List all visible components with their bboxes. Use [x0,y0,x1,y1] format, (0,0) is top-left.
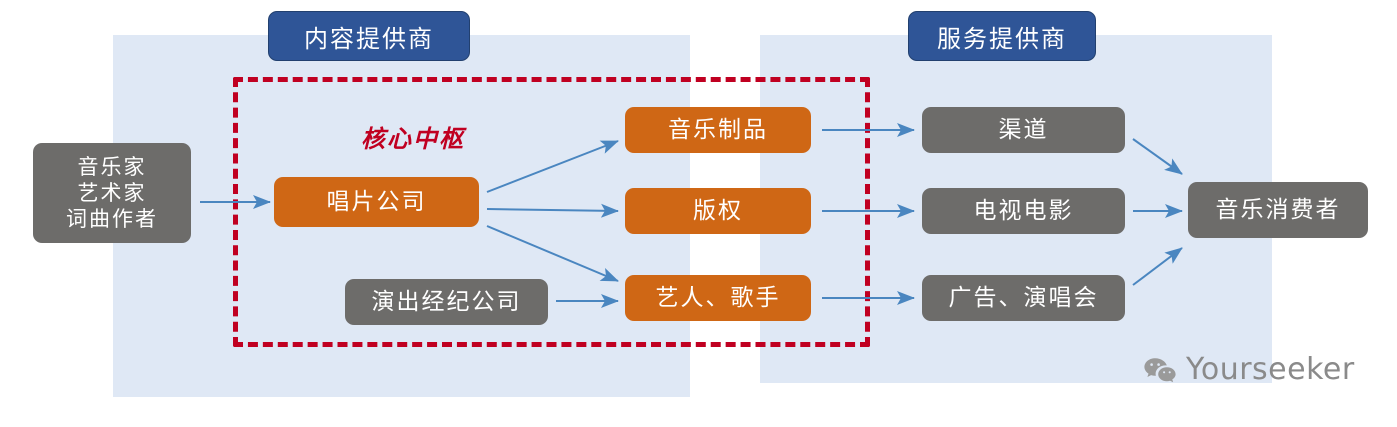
node-performance-agency-label: 演出经纪公司 [372,288,522,317]
node-music-products-label: 音乐制品 [668,116,768,145]
diagram-canvas: 内容提供商 服务提供商 核心中枢 音乐家 艺术家 词曲作者 唱片公司 演出经纪公… [0,0,1397,427]
node-performance-agency[interactable]: 演出经纪公司 [345,279,548,325]
node-music-consumers-label: 音乐消费者 [1216,196,1341,225]
section-header-service-provider-label: 服务提供商 [937,19,1067,54]
watermark-label: Yourseeker [1186,352,1355,387]
node-creators[interactable]: 音乐家 艺术家 词曲作者 [33,143,191,243]
node-artists-singers-label: 艺人、歌手 [656,284,781,313]
node-channel-label: 渠道 [999,116,1049,145]
node-music-products[interactable]: 音乐制品 [625,107,811,153]
node-copyright-label: 版权 [693,197,743,226]
section-header-content-provider-label: 内容提供商 [304,19,434,54]
node-record-company[interactable]: 唱片公司 [274,177,479,227]
node-tv-film[interactable]: 电视电影 [922,188,1125,234]
node-tv-film-label: 电视电影 [974,197,1074,226]
node-advertising-concerts[interactable]: 广告、演唱会 [922,275,1125,321]
section-header-service-provider: 服务提供商 [908,11,1096,61]
node-record-company-label: 唱片公司 [327,188,427,217]
node-channel[interactable]: 渠道 [922,107,1125,153]
node-music-consumers[interactable]: 音乐消费者 [1188,182,1368,238]
node-creators-line-2: 艺术家 [78,180,147,206]
node-artists-singers[interactable]: 艺人、歌手 [625,275,811,321]
node-advertising-concerts-label: 广告、演唱会 [949,284,1099,313]
section-header-content-provider: 内容提供商 [268,11,470,61]
wechat-icon [1143,356,1177,384]
node-copyright[interactable]: 版权 [625,188,811,234]
watermark: Yourseeker [1143,352,1355,387]
node-creators-line-1: 音乐家 [78,154,147,180]
node-creators-line-3: 词曲作者 [66,206,158,232]
core-hub-label: 核心中枢 [338,119,488,154]
